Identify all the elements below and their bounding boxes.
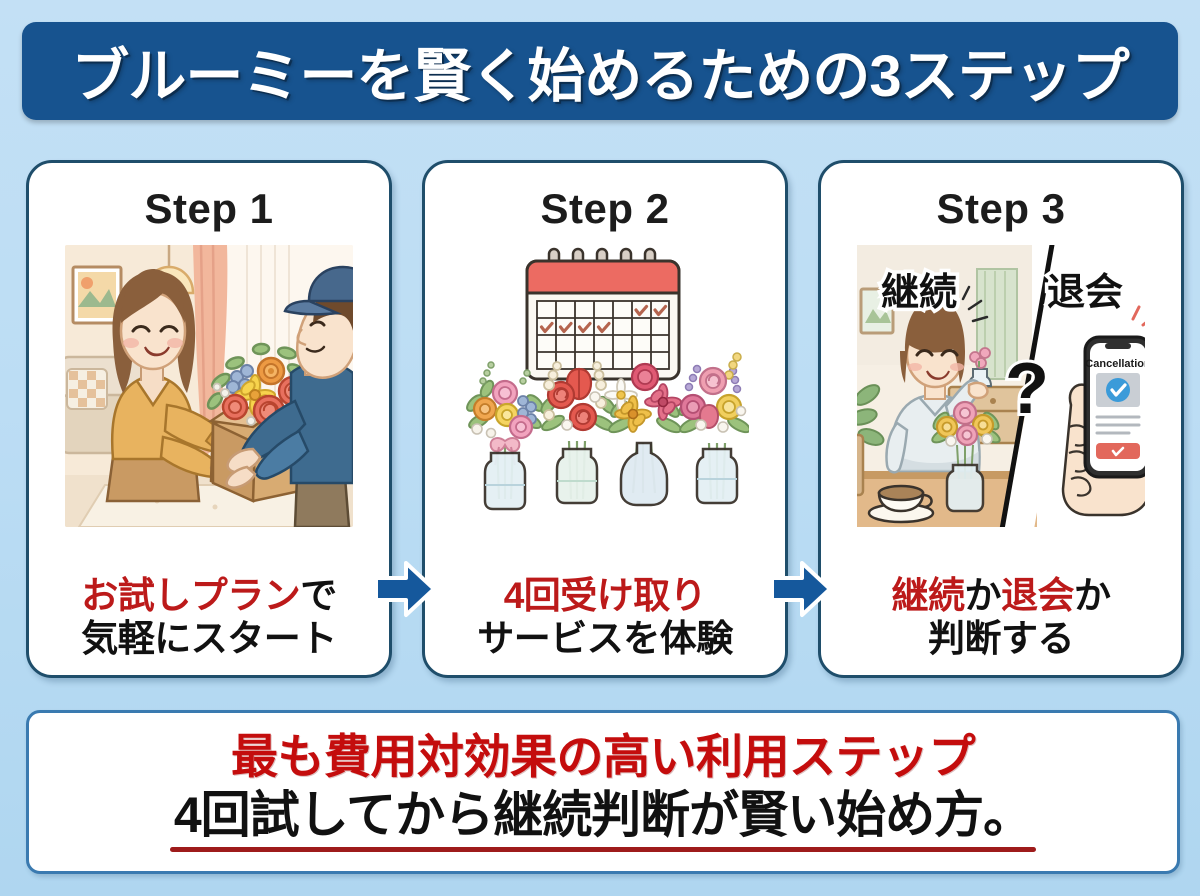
arrow-step1-to-step2: [374, 560, 436, 618]
step-1-caption-inline: で: [300, 575, 337, 616]
svg-text:Cancellation: Cancellation: [1085, 358, 1145, 370]
step-1-label: Step 1: [29, 185, 389, 233]
step-card-2[interactable]: Step 2: [422, 160, 788, 678]
calendar-graphic: [527, 249, 679, 379]
bouquet-3: [605, 364, 683, 505]
step-2-caption-line2: サービスを体験: [477, 618, 733, 659]
summary-underline: [170, 847, 1036, 852]
step-2-label: Step 2: [425, 185, 785, 233]
step-card-1[interactable]: Step 1: [26, 160, 392, 678]
arrow-step2-to-step3: [770, 560, 832, 618]
step-3-caption-seg-4: か: [1074, 575, 1111, 616]
summary-banner: 最も費用対効果の高い利用ステップ 4回試してから継続判断が賢い始め方。: [26, 710, 1180, 874]
svg-text:?: ?: [1005, 349, 1049, 429]
svg-text:退会: 退会: [1047, 272, 1123, 314]
svg-text:継続: 継続: [881, 272, 957, 314]
step-2-caption: 4回受け取り サービスを体験: [425, 575, 785, 661]
step-3-illustration: Cancellation: [857, 245, 1145, 527]
steps-row: Step 1: [0, 160, 1200, 680]
summary-line-2-wrap: 4回試してから継続判断が賢い始め方。: [174, 788, 1032, 852]
summary-line-1: 最も費用対効果の高い利用ステップ: [231, 732, 975, 783]
step-3-caption-seg-2: か: [965, 575, 1002, 616]
bouquet-4: [677, 353, 749, 503]
step-1-caption: お試しプランで 気軽にスタート: [29, 575, 389, 661]
step-2-caption-red: 4回受け取り: [504, 575, 707, 616]
bouquet-2: [539, 362, 618, 503]
step-3-label: Step 3: [821, 185, 1181, 233]
step-3-caption-line2: 判断する: [928, 618, 1074, 659]
step-3-caption-seg-3: 退会: [1001, 575, 1074, 616]
step-1-caption-line2: 気軽にスタート: [81, 618, 337, 659]
step-3-caption-seg-1: 継続: [892, 575, 965, 616]
step-1-illustration: [65, 245, 353, 527]
step-1-caption-red: お試しプラン: [81, 575, 300, 616]
page-title: ブルーミーを賢く始めるための3ステップ: [71, 29, 1128, 113]
step-3-caption: 継続か退会か 判断する: [821, 575, 1181, 661]
summary-line-2: 4回試してから継続判断が賢い始め方。: [174, 788, 1032, 842]
step-2-illustration: [461, 245, 749, 527]
header-banner: ブルーミーを賢く始めるための3ステップ: [22, 22, 1178, 120]
bouquet-1: [464, 362, 545, 509]
step-card-3[interactable]: Step 3: [818, 160, 1184, 678]
